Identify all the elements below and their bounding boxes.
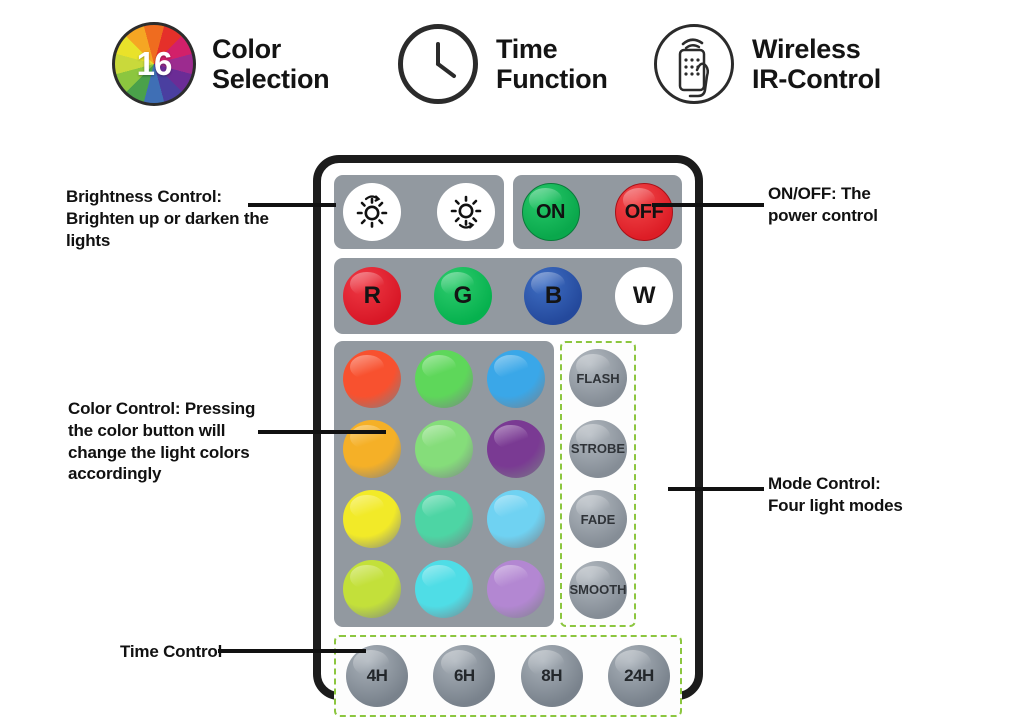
color-lavender[interactable] xyxy=(487,560,545,618)
timer-8h-button[interactable]: 8H xyxy=(521,645,583,707)
on-button-label: ON xyxy=(536,201,565,224)
timer-4h-label: 4H xyxy=(367,666,388,686)
color-turquoise[interactable] xyxy=(415,560,473,618)
fade-button[interactable]: FADE xyxy=(569,490,627,548)
brightness-up-button[interactable] xyxy=(343,183,401,241)
off-button-label: OFF xyxy=(625,201,664,224)
brightness-panel xyxy=(334,175,504,249)
timer-6h-label: 6H xyxy=(454,666,475,686)
feature-color-selection: 16 Color Selection xyxy=(112,22,329,106)
feature-strip: 16 Color Selection Time Function xyxy=(0,0,1024,132)
fade-button-label: FADE xyxy=(581,512,616,527)
color-grid-panel xyxy=(334,341,554,627)
remote-control: ON OFF R G B W xyxy=(313,155,703,700)
smooth-button[interactable]: SMOOTH xyxy=(569,561,627,619)
leader-line-color xyxy=(258,430,386,434)
callout-time-control: Time Control xyxy=(120,641,222,663)
color-light-green[interactable] xyxy=(415,420,473,478)
top-button-row: ON OFF xyxy=(334,175,682,249)
color-yellow[interactable] xyxy=(343,490,401,548)
timer-24h-button[interactable]: 24H xyxy=(608,645,670,707)
strobe-button[interactable]: STROBE xyxy=(569,420,627,478)
power-panel: ON OFF xyxy=(513,175,683,249)
red-button-label: R xyxy=(364,282,381,310)
timer-8h-label: 8H xyxy=(541,666,562,686)
color-yellow-green[interactable] xyxy=(343,560,401,618)
color-light-blue[interactable] xyxy=(487,490,545,548)
blue-button-label: B xyxy=(545,282,562,310)
flash-button[interactable]: FLASH xyxy=(569,349,627,407)
brightness-down-button[interactable] xyxy=(437,183,495,241)
callout-color-control: Color Control: Pressing the color button… xyxy=(68,398,283,485)
color-amber[interactable] xyxy=(343,420,401,478)
smooth-button-label: SMOOTH xyxy=(569,582,626,597)
color-bright-green[interactable] xyxy=(415,350,473,408)
blue-button[interactable]: B xyxy=(524,267,582,325)
feature-wireless-ir: Wireless IR-Control xyxy=(652,22,881,106)
white-button[interactable]: W xyxy=(615,267,673,325)
color-sky-blue[interactable] xyxy=(487,350,545,408)
ir-remote-icon xyxy=(652,22,736,106)
green-button[interactable]: G xyxy=(434,267,492,325)
red-button[interactable]: R xyxy=(343,267,401,325)
color-and-mode-area: FLASH STROBE FADE SMOOTH xyxy=(334,341,682,627)
leader-line-onoff xyxy=(652,203,764,207)
timer-6h-button[interactable]: 6H xyxy=(433,645,495,707)
leader-line-mode xyxy=(668,487,764,491)
leader-line-time xyxy=(218,649,366,653)
flash-button-label: FLASH xyxy=(576,371,619,386)
green-button-label: G xyxy=(454,282,472,310)
clock-icon xyxy=(396,22,480,106)
leader-line-brightness xyxy=(248,203,336,207)
feature-time-function: Time Function xyxy=(396,22,608,106)
rgbw-panel: R G B W xyxy=(334,258,682,334)
timer-24h-label: 24H xyxy=(624,666,654,686)
feature-color-selection-label: Color Selection xyxy=(212,34,329,94)
color-purple[interactable] xyxy=(487,420,545,478)
on-button[interactable]: ON xyxy=(522,183,580,241)
callout-brightness-control: Brightness Control: Brighten up or darke… xyxy=(66,186,296,251)
callout-mode-control: Mode Control: Four light modes xyxy=(768,473,903,517)
color-wheel-icon: 16 xyxy=(112,22,196,106)
color-orange-red[interactable] xyxy=(343,350,401,408)
off-button[interactable]: OFF xyxy=(615,183,673,241)
timer-4h-button[interactable]: 4H xyxy=(346,645,408,707)
feature-time-function-label: Time Function xyxy=(496,34,608,94)
white-button-label: W xyxy=(633,282,655,310)
mode-panel: FLASH STROBE FADE SMOOTH xyxy=(560,341,636,627)
color-spring-green[interactable] xyxy=(415,490,473,548)
timer-panel: 4H 6H 8H 24H xyxy=(334,635,682,717)
strobe-button-label: STROBE xyxy=(571,441,625,456)
callout-on-off: ON/OFF: The power control xyxy=(768,183,878,227)
feature-wireless-ir-label: Wireless IR-Control xyxy=(752,34,881,94)
color-count-badge: 16 xyxy=(112,22,196,106)
